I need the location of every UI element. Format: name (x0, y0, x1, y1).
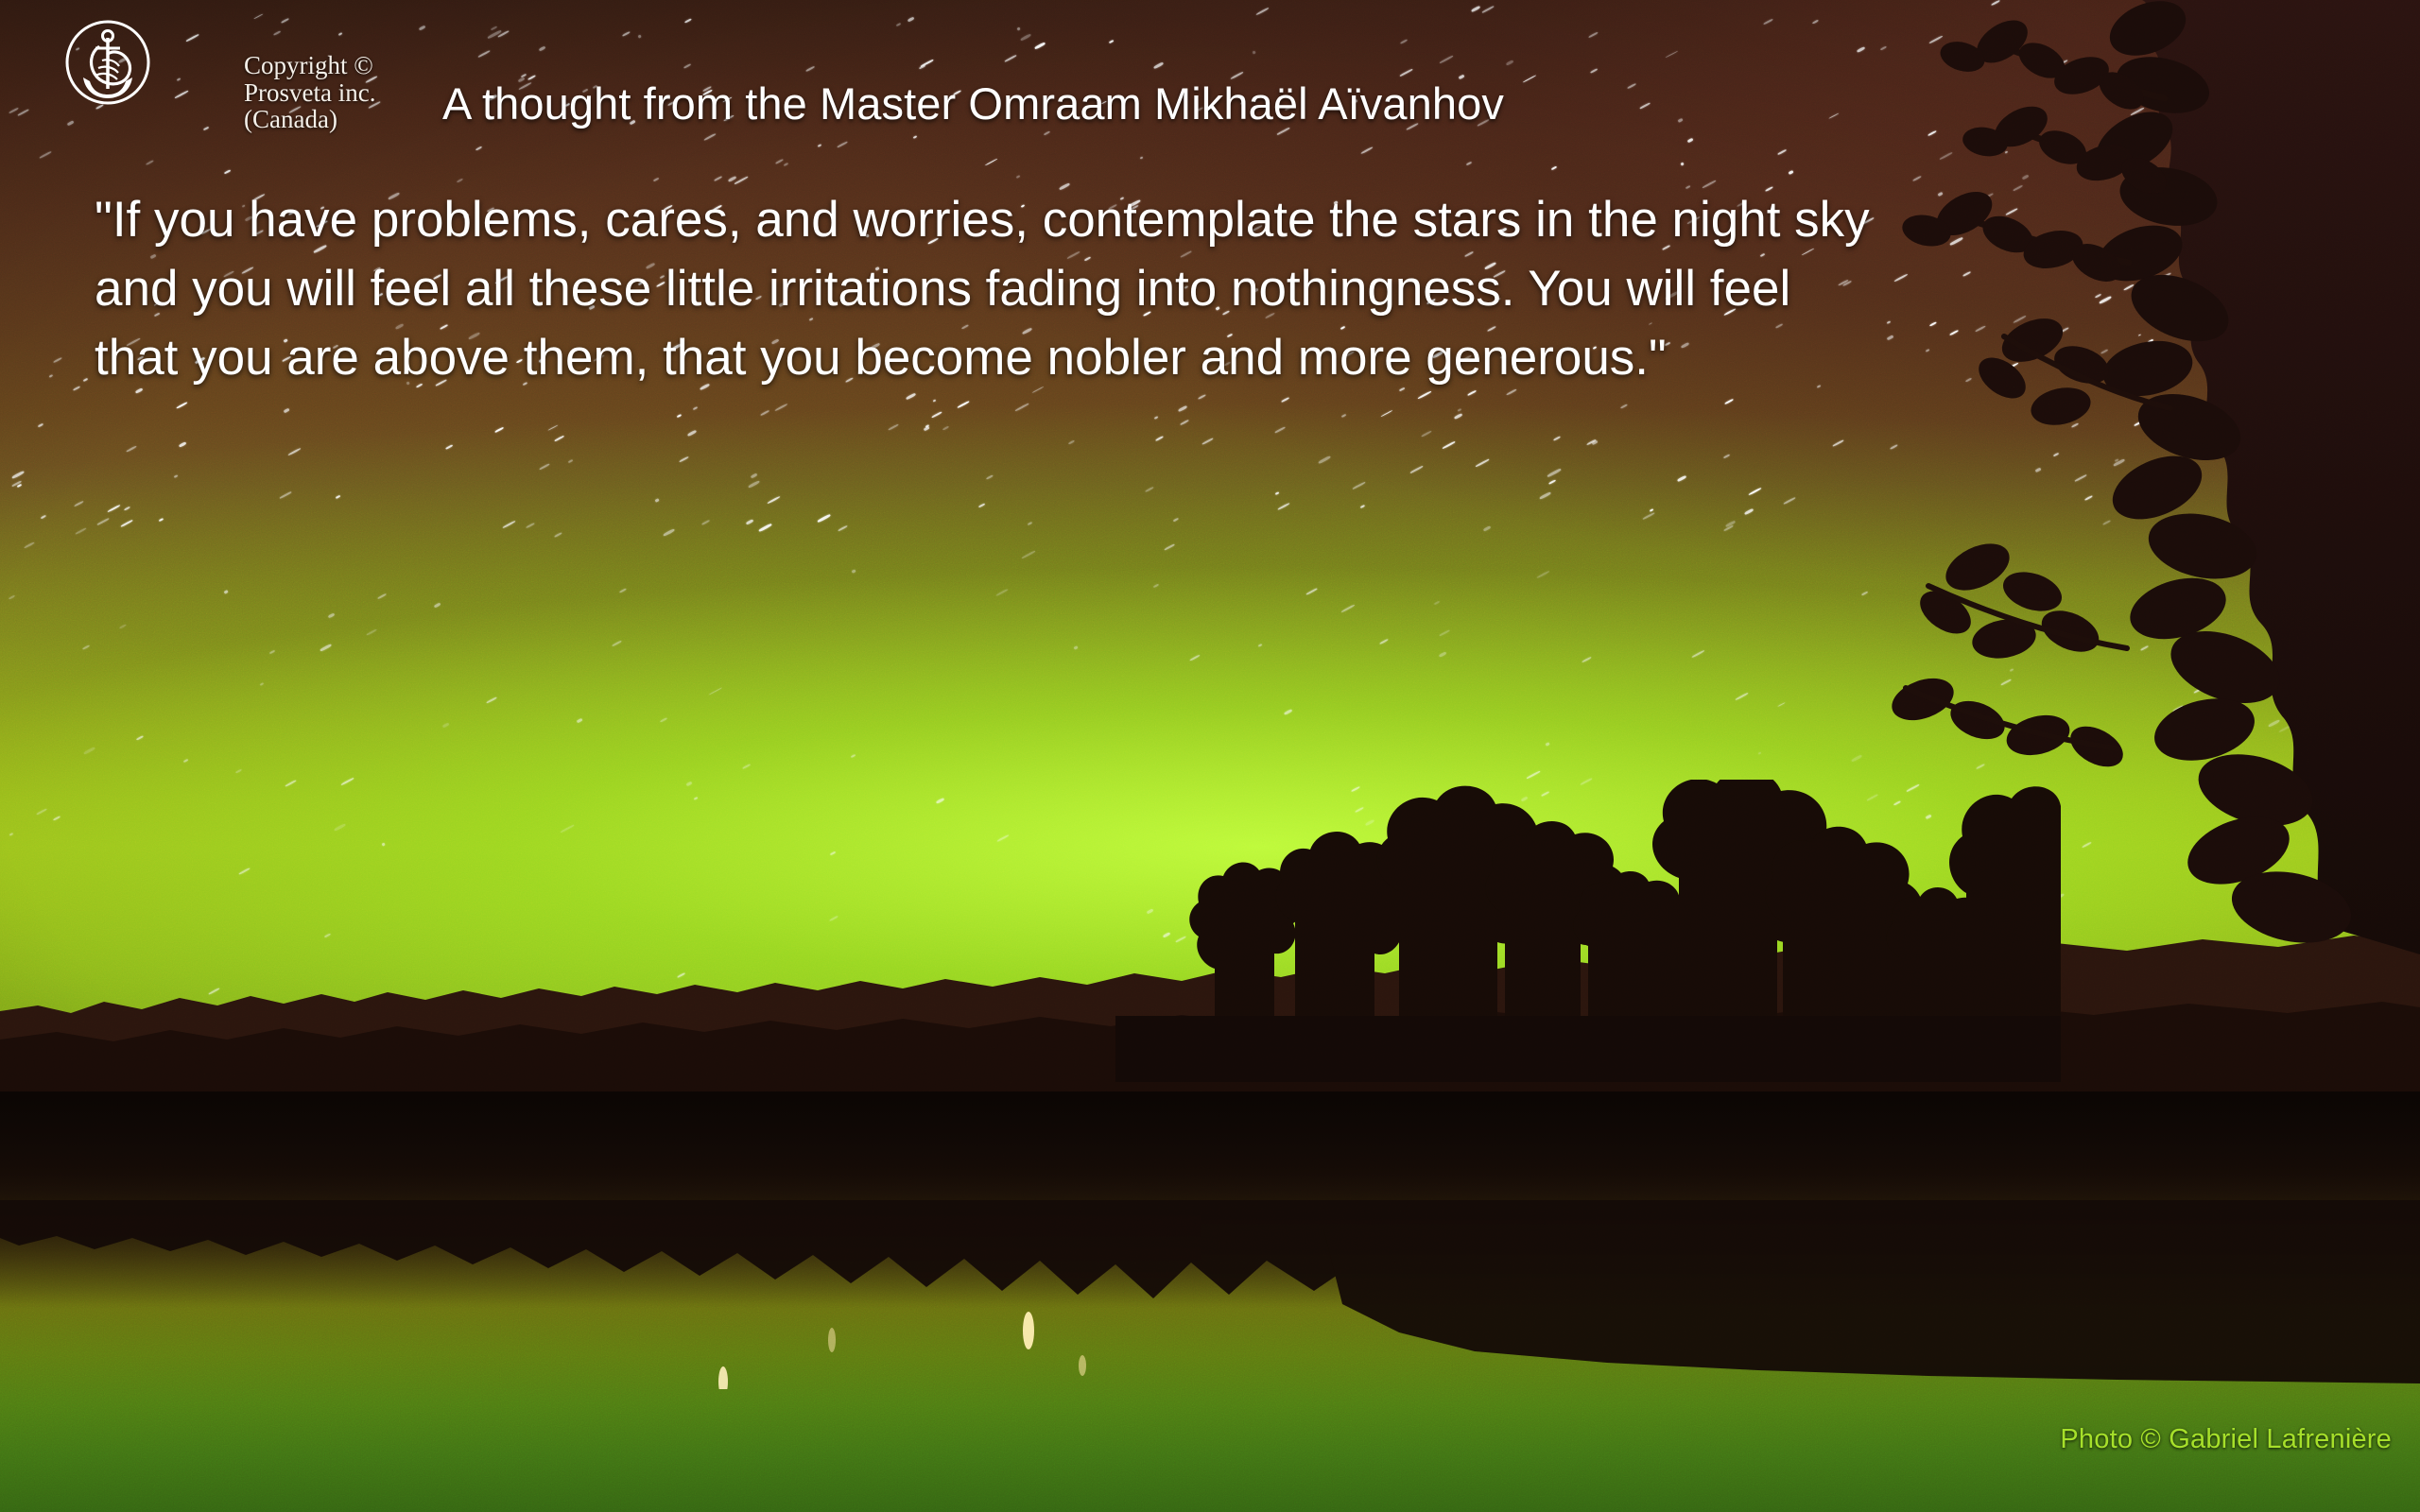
copyright-line-1: Copyright © (244, 52, 442, 79)
screenshot-root: Copyright © Prosveta inc. (Canada) A tho… (0, 0, 2420, 1512)
copyright-line-2: Prosveta inc. (244, 79, 442, 107)
water-tree-reflections (0, 1200, 2420, 1389)
copyright-block: Copyright © Prosveta inc. (Canada) (244, 52, 442, 133)
page-title: A thought from the Master Omraam Mikhaël… (442, 77, 1504, 129)
quote-text: "If you have problems, cares, and worrie… (95, 185, 1985, 392)
foreground-trees-silhouette (1115, 780, 2061, 1082)
photo-credit: Photo © Gabriel Lafrenière (2060, 1424, 2392, 1455)
quote-line-1: "If you have problems, cares, and worrie… (95, 185, 1985, 254)
quote-line-2: and you will feel all these little irrit… (95, 254, 1985, 323)
prosveta-logo-icon (64, 19, 151, 106)
copyright-line-3: (Canada) (244, 106, 442, 133)
quote-line-3: that you are above them, that you become… (95, 323, 1985, 392)
